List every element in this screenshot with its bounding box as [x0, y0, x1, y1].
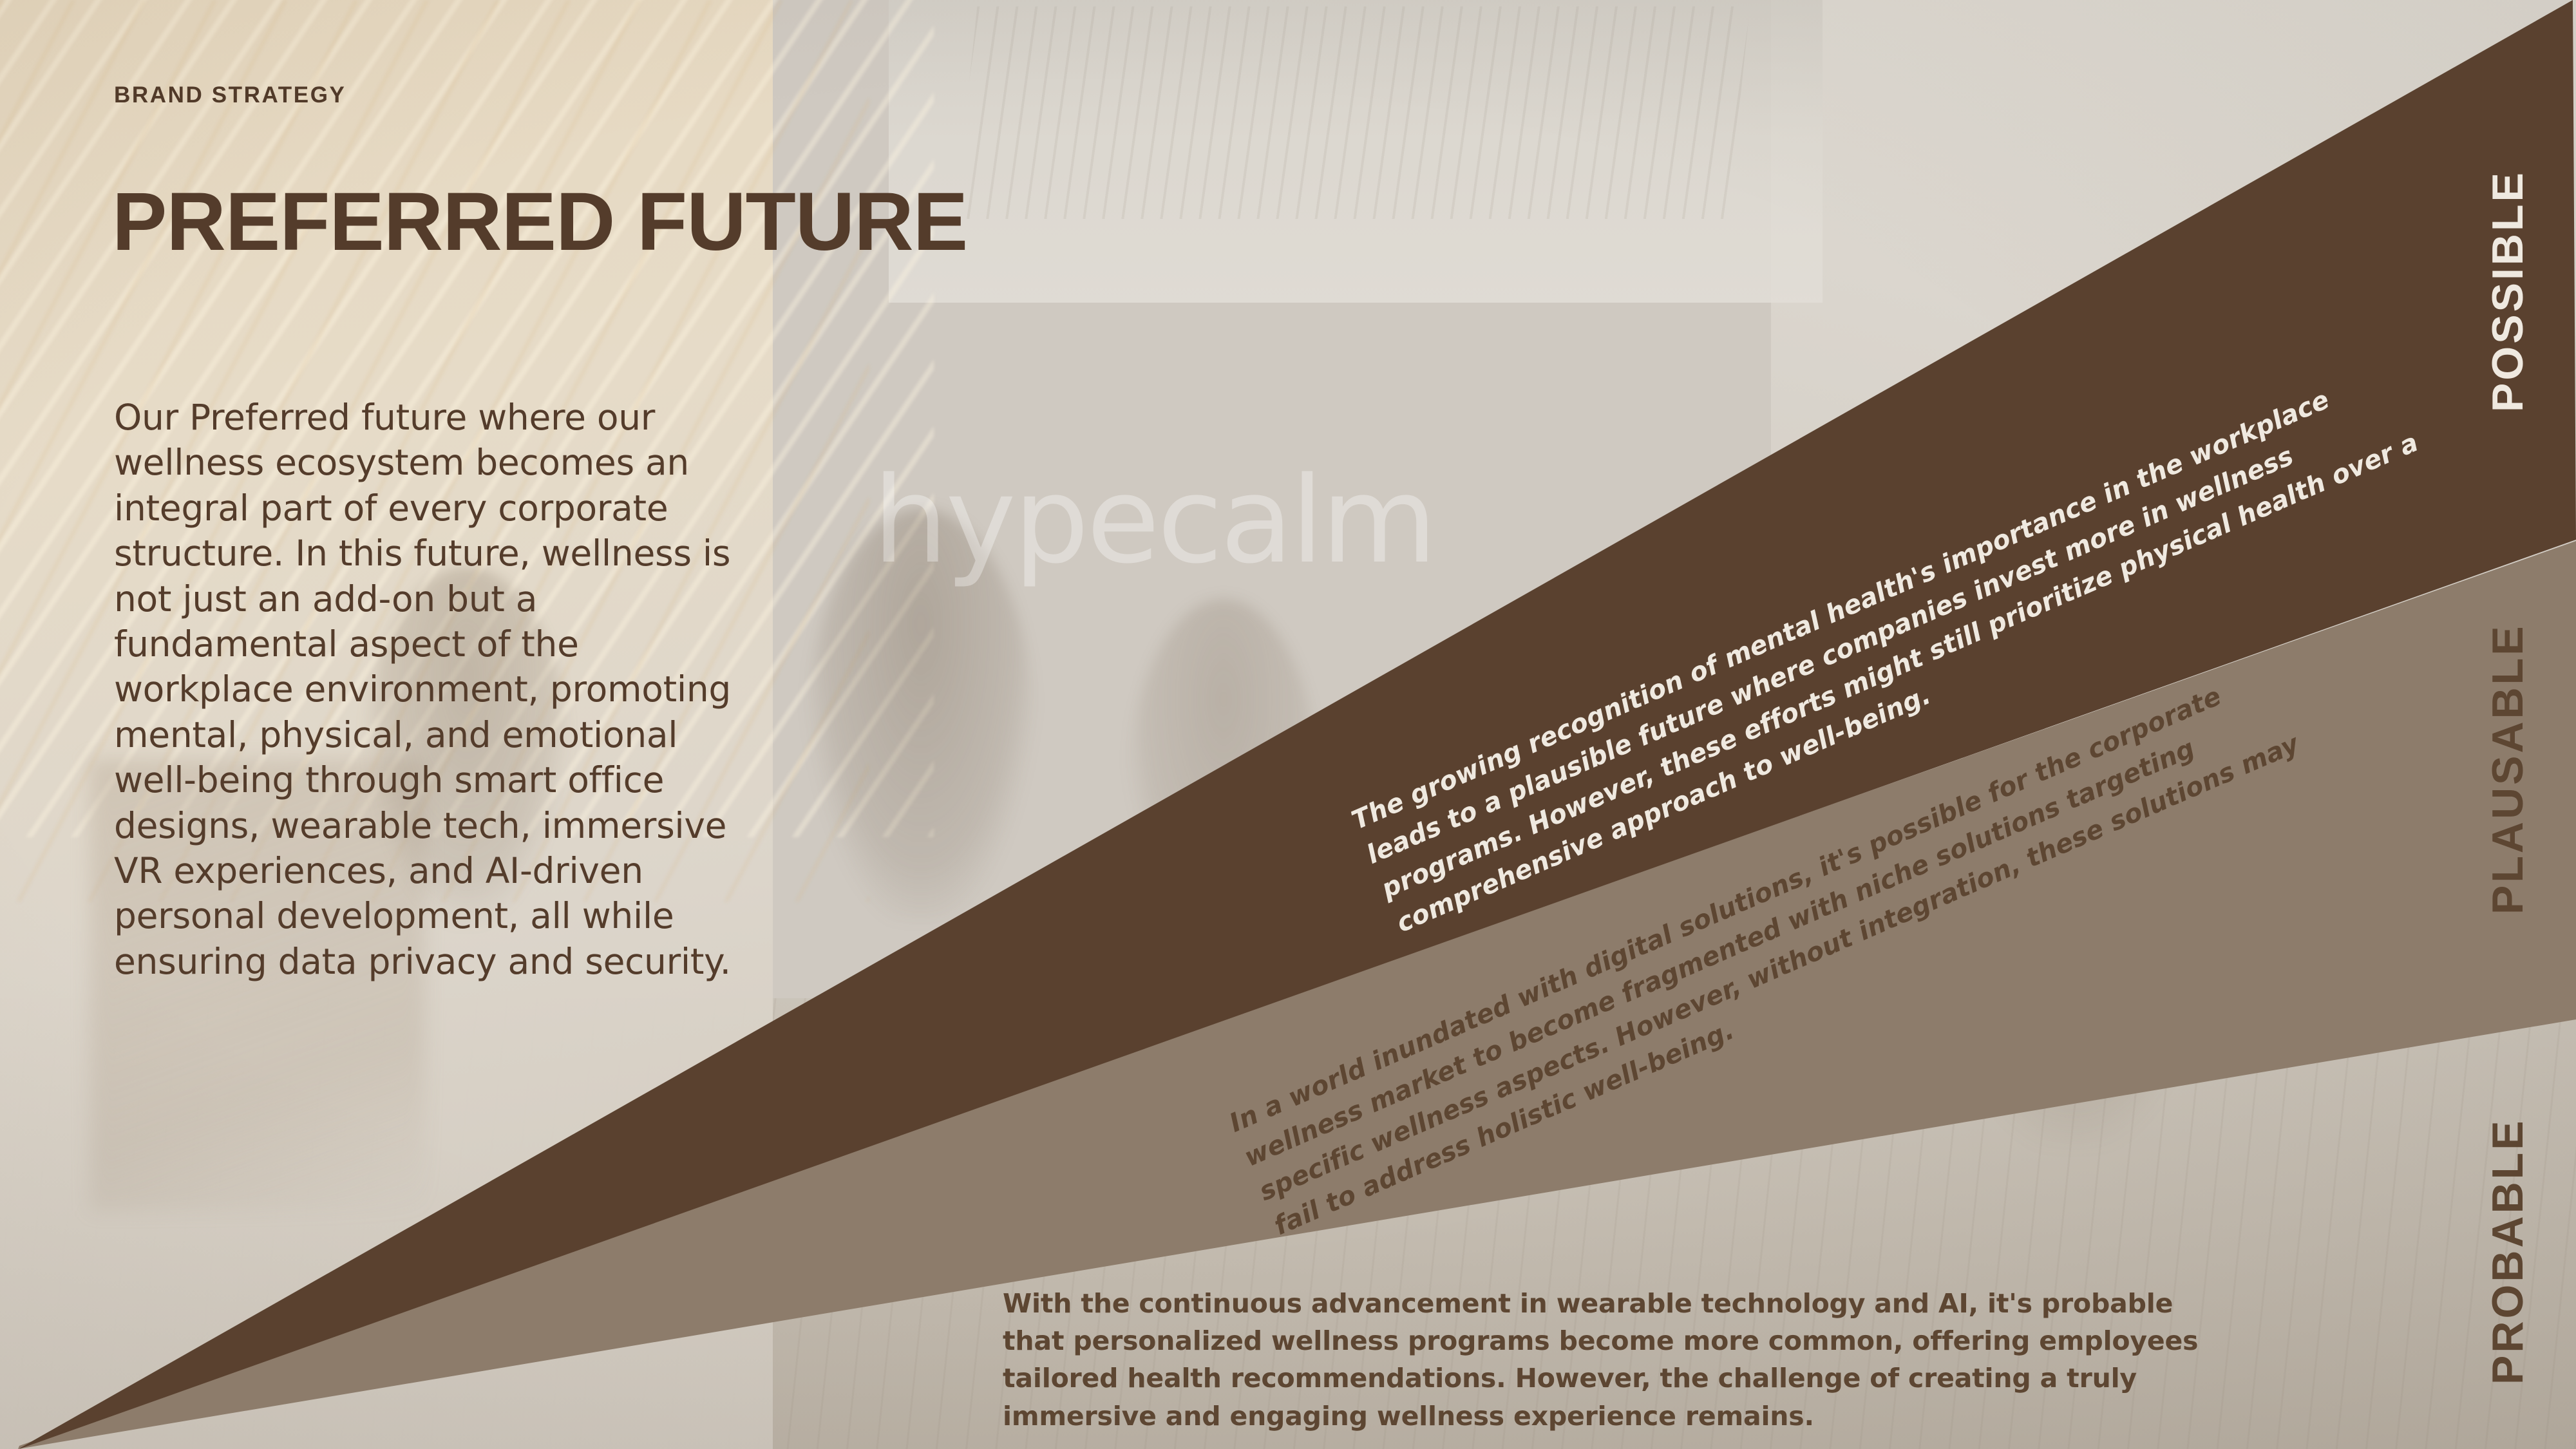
- eyebrow-label: BRAND STRATEGY: [114, 82, 346, 108]
- intro-paragraph: Our Preferred future where our wellness …: [114, 395, 764, 984]
- page-title: PREFERRED FUTURE: [112, 181, 967, 263]
- slide-canvas: hypecalm BRAND STRATEGY PREFERRED FUTURE…: [0, 0, 2576, 1449]
- band-label-plausable: PLAUSABLE: [2483, 623, 2533, 914]
- band-label-possible: POSSIBLE: [2483, 170, 2533, 412]
- band-text-probable: With the continuous advancement in weara…: [1003, 1285, 2226, 1435]
- band-label-probable: PROBABLE: [2483, 1118, 2533, 1385]
